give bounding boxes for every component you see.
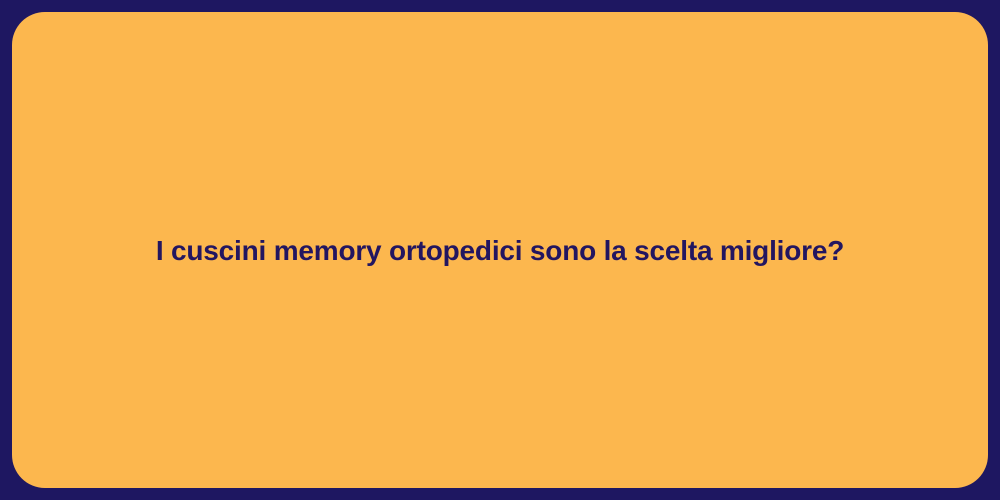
banner-panel: I cuscini memory ortopedici sono la scel… xyxy=(12,12,988,488)
banner-frame: I cuscini memory ortopedici sono la scel… xyxy=(0,0,1000,500)
banner-headline: I cuscini memory ortopedici sono la scel… xyxy=(116,233,884,268)
